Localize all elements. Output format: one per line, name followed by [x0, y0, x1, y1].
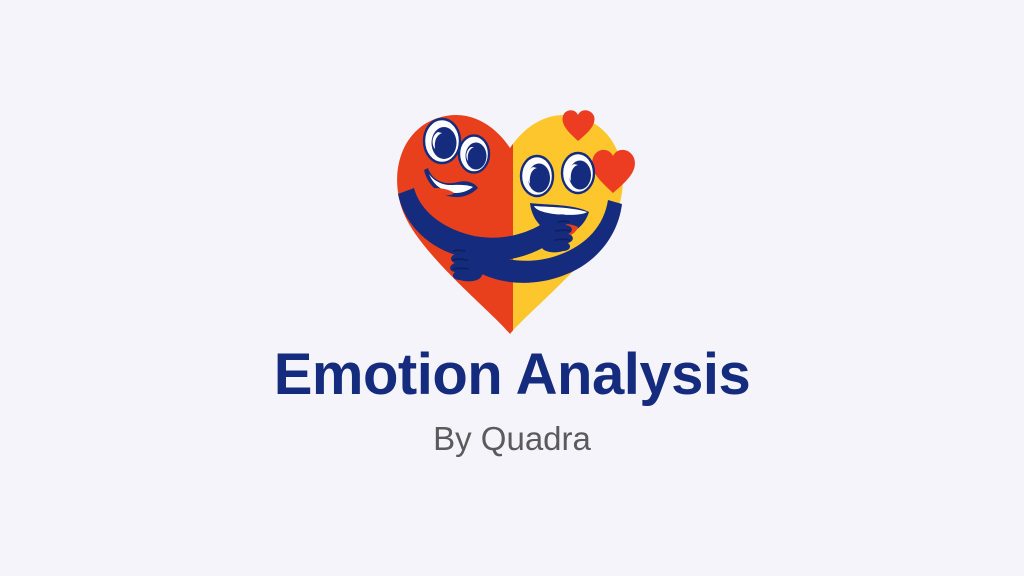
- logo-container: [0, 96, 1024, 346]
- red-face-left-eye: [424, 119, 460, 163]
- title-block: Emotion Analysis By Quadra: [0, 344, 1024, 458]
- hugging-hearts-logo-icon: [382, 96, 642, 346]
- title-slide: Emotion Analysis By Quadra: [0, 0, 1024, 576]
- red-face-right-eye: [459, 136, 489, 173]
- yellow-face-right-eye: [562, 153, 594, 193]
- page-subtitle: By Quadra: [0, 406, 1024, 458]
- yellow-face-left-eye: [521, 156, 553, 196]
- page-title: Emotion Analysis: [0, 344, 1024, 406]
